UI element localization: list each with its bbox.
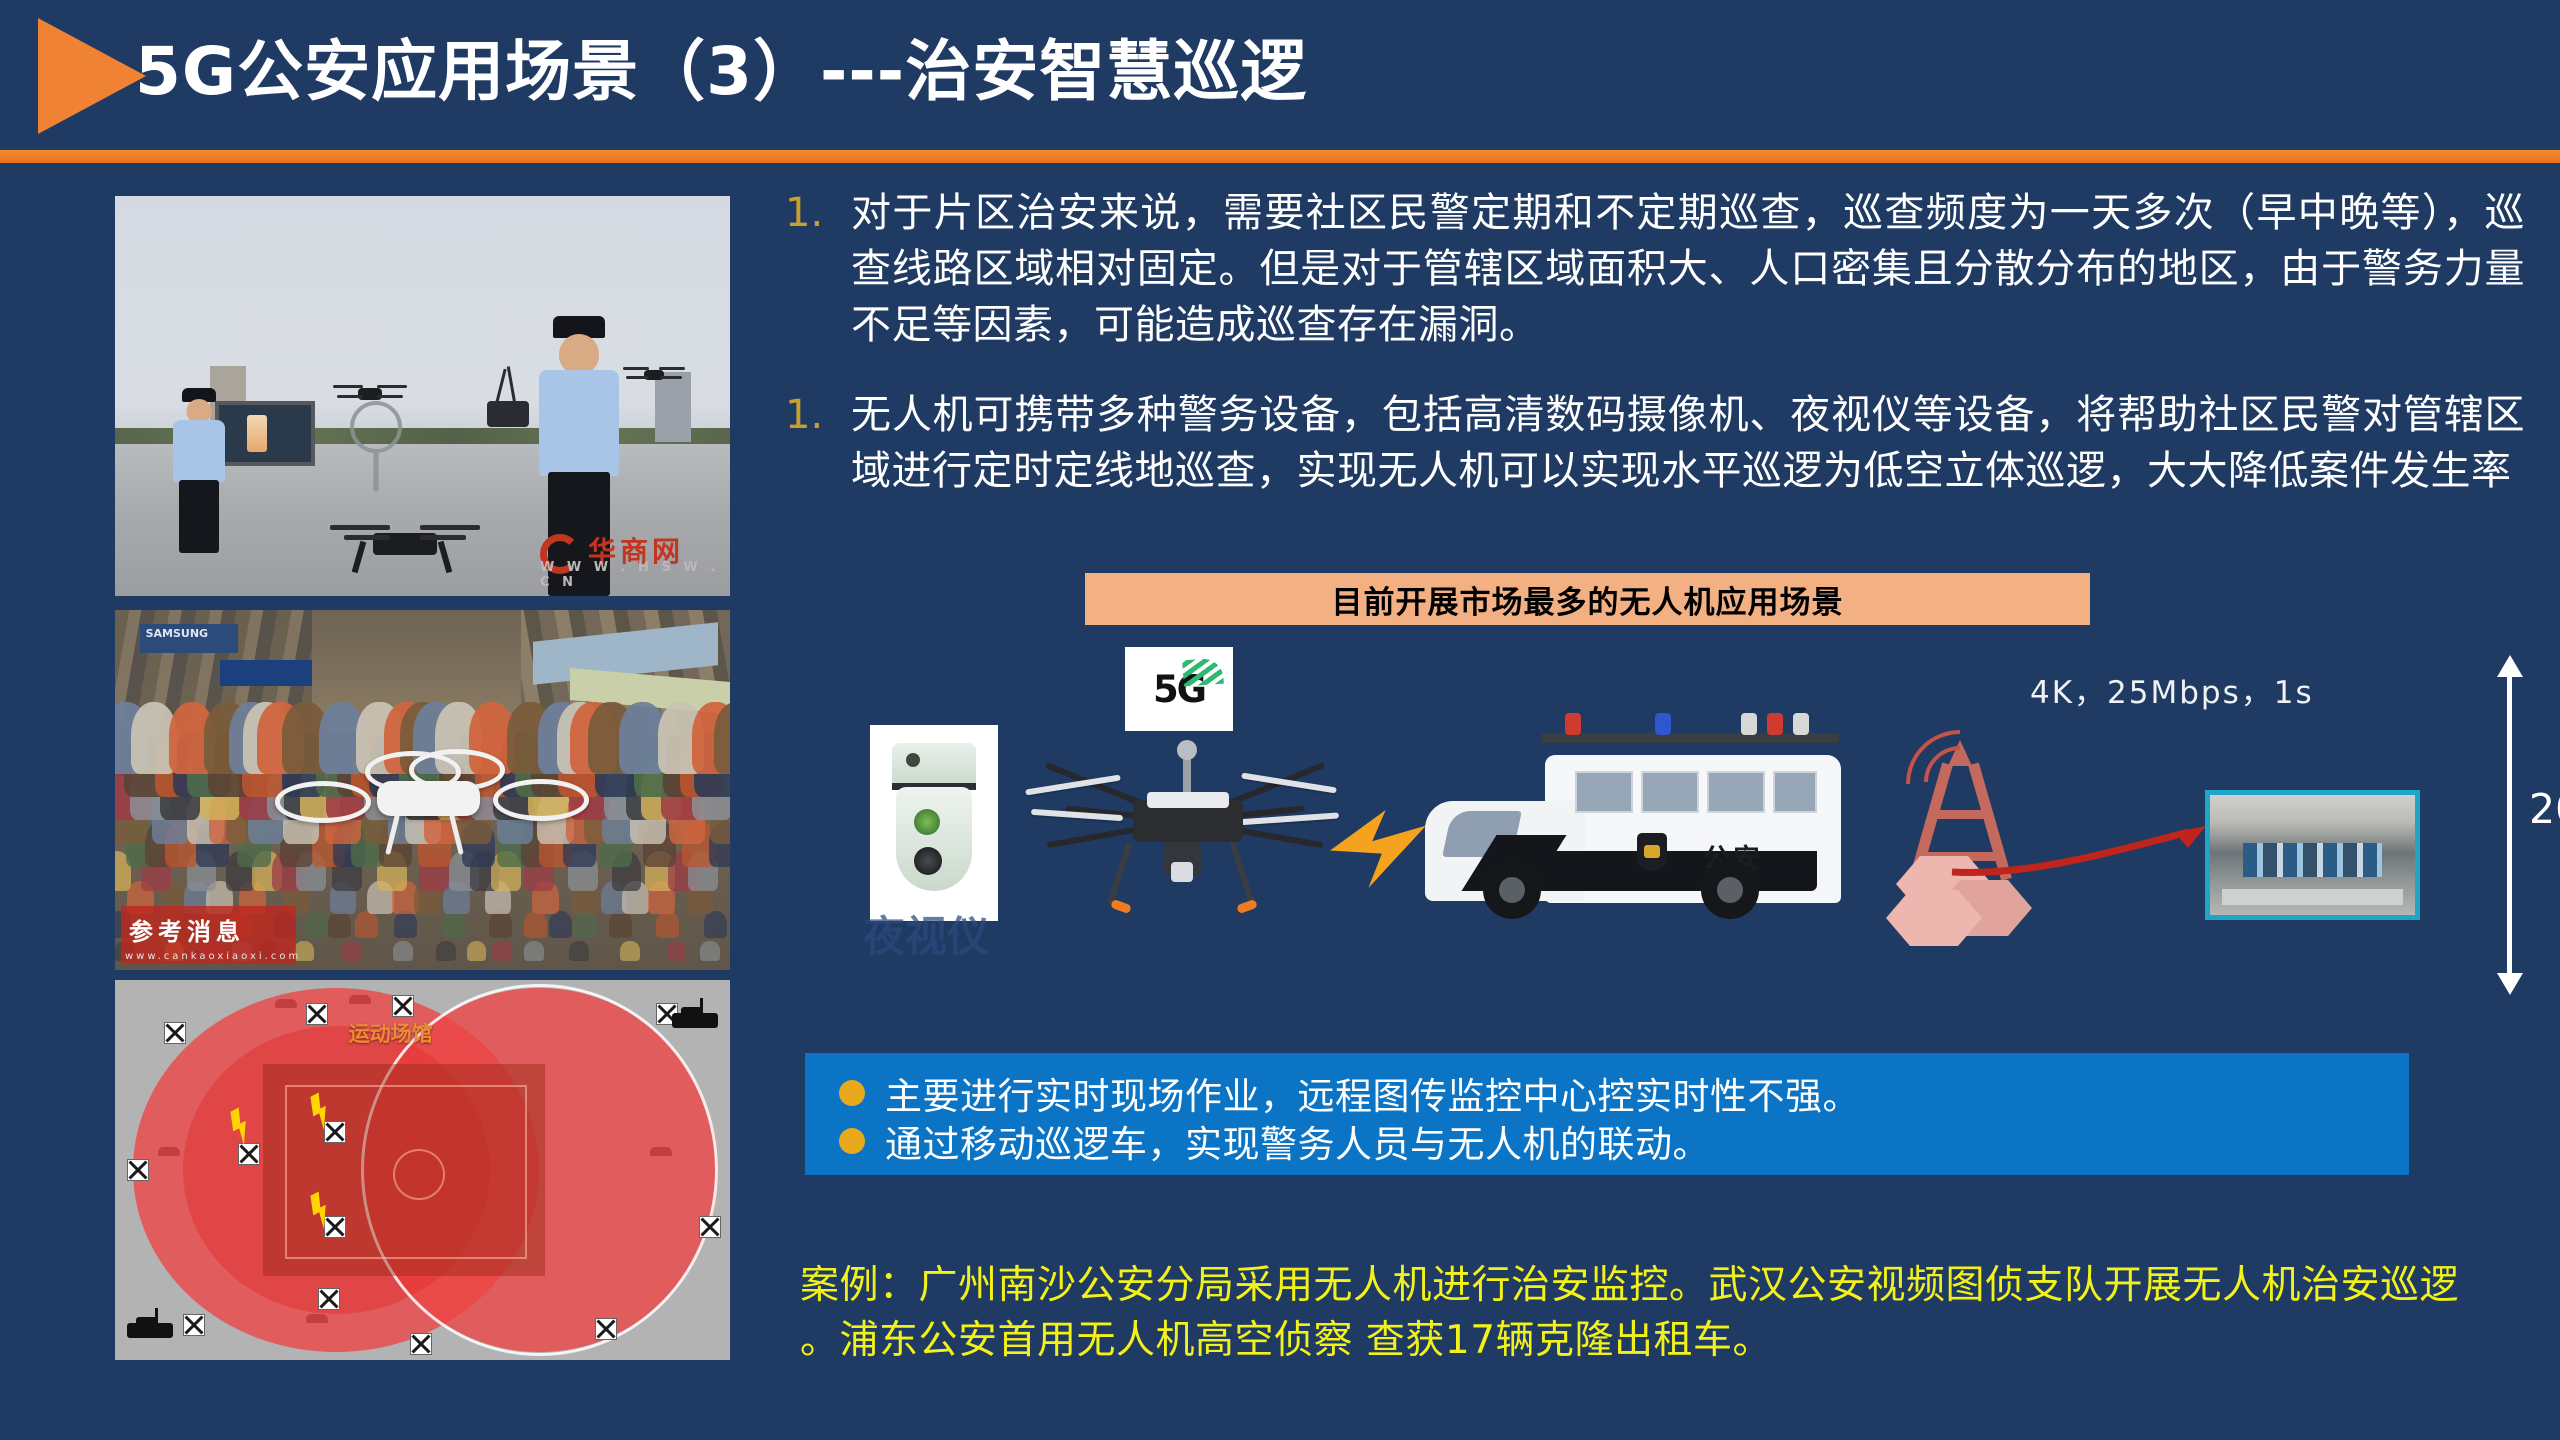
paragraph-text: 对于片区治安来说，需要社区民警定期和不定期巡查，巡查频度为一天多次（早中晚等），…	[851, 185, 2525, 353]
ferris-wheel	[350, 401, 402, 453]
bullet-icon	[839, 1128, 865, 1154]
coverage-node	[595, 1318, 617, 1340]
highlight-banner: 目前开展市场最多的无人机应用场景	[1085, 573, 2090, 625]
white-drone-icon	[269, 747, 589, 862]
altitude-label: 20~40m	[2529, 785, 2560, 833]
paragraph-2: 1. 无人机可携带多种警务设备，包括高清数码摄像机、夜视仪等设备，将帮助社区民警…	[785, 387, 2525, 499]
callout-item: 通过移动巡逻车，实现警务人员与无人机的联动。	[839, 1117, 2409, 1165]
photo-rf-coverage-map: 运动场馆	[115, 980, 730, 1360]
police-officer	[170, 388, 228, 553]
callout-item-text: 主要进行实时现场作业，远程图传监控中心控实时性不强。	[885, 1066, 1860, 1120]
coverage-node	[410, 1333, 432, 1355]
photo-police-drone-plaza: 华商网 W W W . H S W . C N	[115, 196, 730, 596]
car-icon	[158, 1147, 180, 1156]
coverage-node	[324, 1121, 346, 1143]
uplink-arrow-icon	[1950, 820, 2210, 880]
slide-root: 5G公安应用场景（3）---治安智慧巡逻	[0, 0, 2560, 1440]
watermark-url-text: W W W . H S W . C N	[540, 560, 720, 590]
title-bar: 5G公安应用场景（3）---治安智慧巡逻	[0, 0, 2560, 155]
night-vision-camera-icon	[870, 725, 998, 921]
watermark-cankao: 参考消息 www.cankaoxiaoxi.com	[121, 906, 296, 964]
remote-controller	[487, 401, 529, 427]
venue-label: 运动场馆	[349, 1018, 433, 1048]
coverage-node	[318, 1288, 340, 1310]
led-screen	[215, 401, 315, 466]
night-vision-label: 夜视仪	[863, 903, 989, 964]
link-spec-label: 4K，25Mbps，1s	[2030, 667, 2314, 712]
page-title: 5G公安应用场景（3）---治安智慧巡逻	[135, 22, 1307, 122]
photo-drone-over-crowd: 参考消息 www.cankaoxiaoxi.com	[115, 610, 730, 970]
title-accent-divider	[0, 150, 2560, 163]
coverage-node	[127, 1159, 149, 1181]
coverage-node	[164, 1022, 186, 1044]
paragraph-text: 无人机可携带多种警务设备，包括高清数码摄像机、夜视仪等设备，将帮助社区民警对管辖…	[851, 387, 2525, 499]
drone-icon	[333, 381, 407, 407]
drone-icon	[623, 364, 685, 386]
drone-icon	[1015, 730, 1345, 920]
body-text-column: 1. 对于片区治安来说，需要社区民警定期和不定期巡查，巡查频度为一天多次（早中晚…	[785, 185, 2525, 533]
shop-sign	[140, 624, 238, 653]
paragraph-number: 1.	[785, 387, 829, 499]
bullet-icon	[839, 1080, 865, 1106]
drone-icon	[330, 511, 480, 577]
wireless-link-bolt-icon	[1330, 810, 1426, 888]
coverage-node	[183, 1314, 205, 1336]
monitoring-center-screen	[2205, 790, 2420, 920]
title-triangle-icon	[38, 18, 146, 134]
architecture-diagram: 夜视仪	[785, 635, 2545, 1035]
car-icon	[650, 1147, 672, 1156]
coverage-node	[306, 1003, 328, 1025]
coverage-node	[238, 1143, 260, 1165]
patrol-van-icon	[672, 1003, 718, 1031]
watermark-hsw: 华商网 W W W . H S W . C N	[540, 528, 720, 590]
callout-item: 主要进行实时现场作业，远程图传监控中心控实时性不强。	[839, 1069, 2409, 1117]
coverage-node	[392, 995, 414, 1017]
shop-sign	[220, 660, 312, 685]
coverage-node	[324, 1216, 346, 1238]
car-icon	[349, 995, 371, 1004]
highlight-banner-text: 目前开展市场最多的无人机应用场景	[1332, 577, 1844, 622]
5g-logo-icon: 5G	[1125, 647, 1233, 731]
coverage-node	[699, 1216, 721, 1238]
paragraph-number: 1.	[785, 185, 829, 353]
police-van-icon: 公安	[1425, 693, 1845, 923]
callout-item-text: 通过移动巡逻车，实现警务人员与无人机的联动。	[885, 1114, 1710, 1168]
car-icon	[306, 1314, 328, 1323]
altitude-dimension: 20~40m	[2495, 655, 2560, 995]
paragraph-1: 1. 对于片区治安来说，需要社区民警定期和不定期巡查，巡查频度为一天多次（早中晚…	[785, 185, 2525, 353]
callout-box: 主要进行实时现场作业，远程图传监控中心控实时性不强。 通过移动巡逻车，实现警务人…	[805, 1053, 2409, 1175]
watermark-cn-text: 参考消息	[129, 912, 245, 947]
patrol-van-icon	[127, 1313, 173, 1341]
car-icon	[275, 999, 297, 1008]
case-study-text: 案例：广州南沙公安分局采用无人机进行治安监控。武汉公安视频图侦支队开展无人机治安…	[800, 1258, 2490, 1368]
stadium-field	[263, 1064, 546, 1277]
